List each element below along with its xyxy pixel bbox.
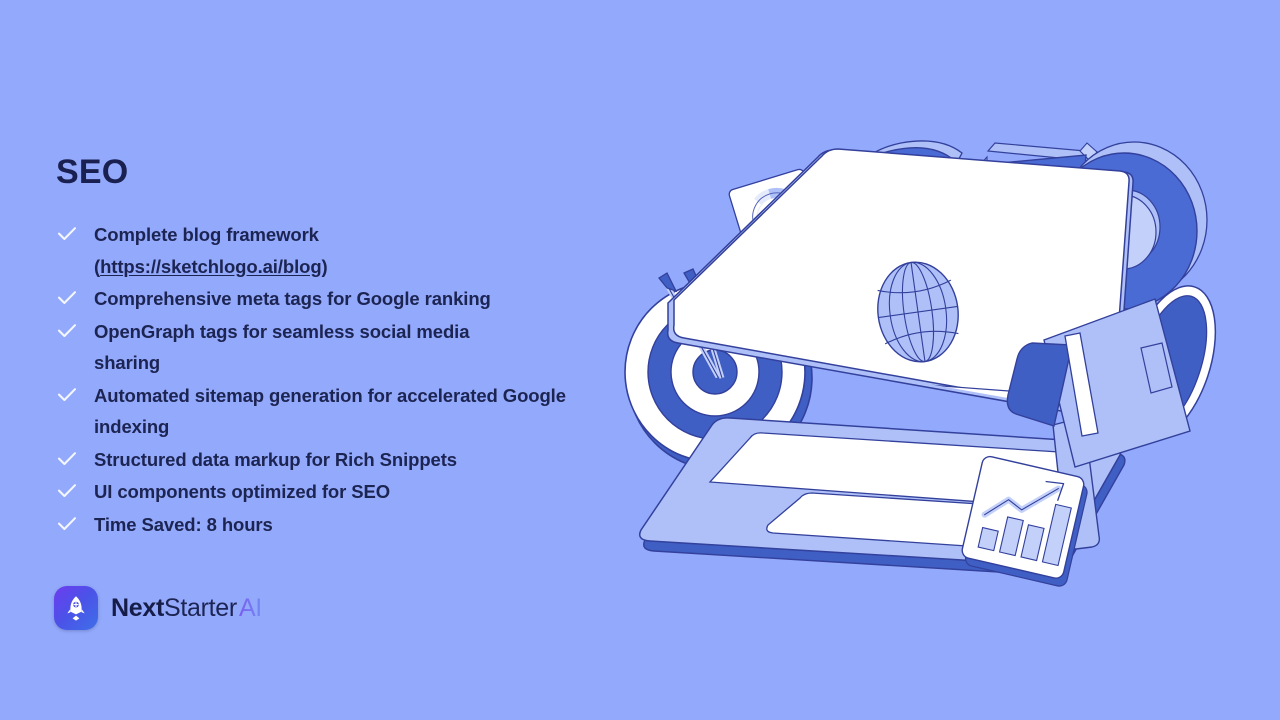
content-column: SEO Complete blog framework (https://ske… [56,155,636,541]
brand-name-bold: Next [111,594,164,622]
rocket-icon [54,586,98,630]
list-item-meta-tags: Comprehensive meta tags for Google ranki… [56,283,636,315]
feature-prefix: Complete blog framework [94,224,319,245]
blog-url-link[interactable]: https://sketchlogo.ai/blog [100,256,321,277]
list-item-ui-components: UI components optimized for SEO [56,476,636,508]
list-item-label: Complete blog framework (https://sketchl… [94,219,328,282]
check-icon [56,219,78,249]
brand-name: NextStarterAI [111,596,262,621]
brand-logo: NextStarterAI [54,586,262,630]
list-item-label: UI components optimized for SEO [94,476,390,508]
seo-laptop-illustration [610,95,1240,605]
list-item-label: Comprehensive meta tags for Google ranki… [94,283,491,315]
page-title: SEO [56,155,636,189]
check-icon [56,380,78,410]
check-icon [56,509,78,539]
check-icon [56,444,78,474]
list-item-structured-data: Structured data markup for Rich Snippets [56,444,636,476]
list-item-opengraph-tags: OpenGraph tags for seamless social media… [56,316,636,379]
list-item-sitemap-generation: Automated sitemap generation for acceler… [56,380,636,443]
list-item-label: Automated sitemap generation for acceler… [94,380,606,443]
brand-name-accent: AI [239,594,262,622]
list-item-label: Time Saved: 8 hours [94,509,273,541]
feature-list: Complete blog framework (https://sketchl… [56,219,636,540]
paren-close: ) [322,256,328,277]
list-item-label: OpenGraph tags for seamless social media… [94,316,494,379]
brand-name-regular: Starter [164,594,237,622]
check-icon [56,316,78,346]
list-item-blog-framework: Complete blog framework (https://sketchl… [56,219,636,282]
list-item-time-saved: Time Saved: 8 hours [56,509,636,541]
check-icon [56,283,78,313]
slide-canvas: SEO Complete blog framework (https://ske… [0,0,1280,720]
bar-chart-card [959,455,1090,588]
list-item-label: Structured data markup for Rich Snippets [94,444,457,476]
check-icon [56,476,78,506]
